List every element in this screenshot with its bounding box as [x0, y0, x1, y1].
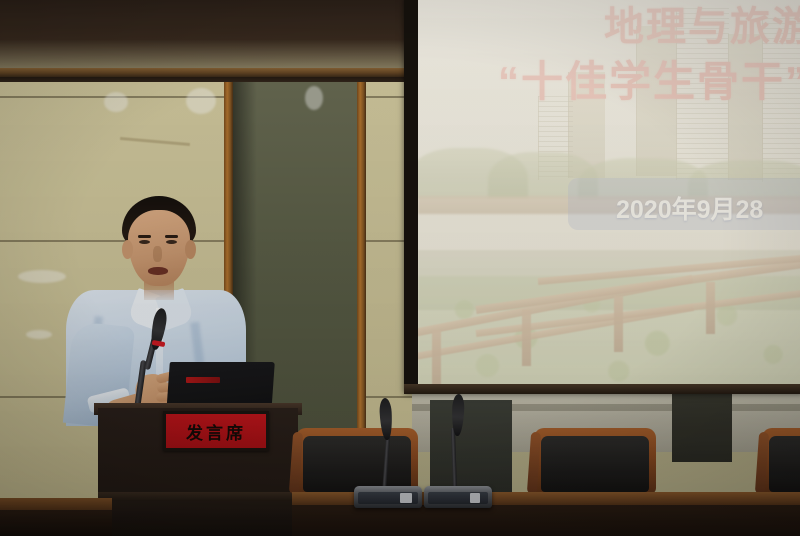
wall-blemish-4	[104, 92, 128, 112]
speaker-eye-left	[139, 240, 150, 244]
speaker-nose	[153, 246, 162, 262]
table-mic-left-button[interactable]	[400, 493, 412, 503]
upper-wall-wood-rail	[0, 68, 420, 77]
table-mic-right-button[interactable]	[470, 493, 480, 503]
podium-mid-rail	[98, 492, 298, 501]
slide-boardwalk-post-4	[706, 282, 715, 334]
laptop-brand-logo	[186, 377, 220, 383]
podium-base	[104, 501, 292, 536]
side-table-front-left	[0, 510, 112, 536]
projection-screen-bottom-lip	[404, 384, 800, 394]
wall-blemish-2	[26, 330, 52, 339]
podium-nameplate-text: 发言席	[186, 419, 246, 444]
speaker-eye-right	[166, 240, 177, 244]
slide-boardwalk-post-3	[614, 296, 623, 352]
projection-screen-surface: 地理与旅游 “十佳学生骨干” 2020年9月28	[418, 0, 800, 384]
speaker-mouth	[148, 267, 168, 275]
lecture-hall-photo: 地理与旅游 “十佳学生骨干” 2020年9月28	[0, 0, 800, 536]
podium-nameplate: 发言席	[163, 411, 269, 451]
slide-date-text: 2020年9月28	[616, 190, 763, 226]
speaker-eyebrow-right	[165, 235, 178, 238]
slide-boardwalk-post-1	[432, 330, 441, 384]
chair-left-pad	[303, 436, 411, 492]
chair-mid-pad	[541, 436, 649, 492]
slide-title-line-2: “十佳学生骨干”	[498, 48, 800, 109]
chair-right-pad	[769, 436, 800, 492]
speaker-ear-left	[122, 240, 133, 259]
speaker-eyebrow-left	[138, 235, 151, 238]
wall-dark-gap-center	[430, 400, 512, 500]
slide-boardwalk-post-2	[522, 310, 531, 366]
wall-blemish-5	[305, 86, 323, 110]
conference-table-front	[292, 505, 800, 536]
slide-title-line-1: 地理与旅游	[604, 0, 800, 52]
lower-wall-dark-bay	[672, 392, 732, 462]
wall-blemish-3	[186, 88, 216, 114]
wall-blemish-1	[18, 270, 66, 283]
speaker-ear-right	[185, 240, 196, 259]
